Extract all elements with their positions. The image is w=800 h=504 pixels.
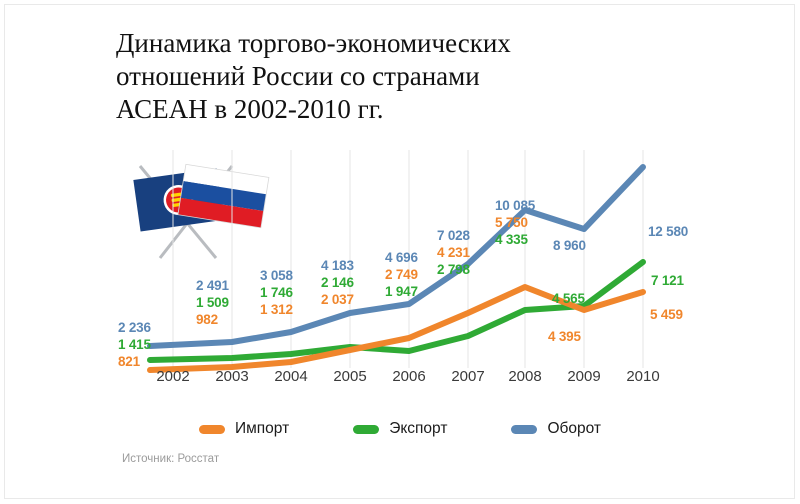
data-label: 3 058 [260,268,293,283]
data-label: 2 037 [321,292,354,307]
data-label: 4 183 [321,258,354,273]
data-label: 5 750 [495,215,528,230]
chart-legend: ИмпортЭкспортОборот [0,420,800,438]
data-label: 1 509 [196,295,229,310]
legend-swatch-turnover [511,425,537,434]
data-label: 4 231 [437,245,470,260]
page-title: Динамика торгово-экономических отношений… [116,27,676,126]
x-axis-tick-2010: 2010 [608,368,678,385]
data-label: 1 947 [385,284,418,299]
legend-swatch-export [353,425,379,434]
legend-swatch-import [199,425,225,434]
data-label: 4 335 [495,232,528,247]
data-label: 4 395 [548,329,581,344]
data-label: 982 [196,312,218,327]
legend-item-import[interactable]: Импорт [199,420,289,438]
data-label: 1 415 [118,337,151,352]
infographic-page: Динамика торгово-экономических отношений… [0,0,800,504]
legend-item-turnover[interactable]: Оборот [511,420,601,438]
data-label: 10 085 [495,198,535,213]
data-label: 7 028 [437,228,470,243]
legend-item-export[interactable]: Экспорт [353,420,447,438]
data-label: 12 580 [648,224,688,239]
data-label: 7 121 [651,273,684,288]
data-label: 4 696 [385,250,418,265]
data-label: 2 236 [118,320,151,335]
data-label: 5 459 [650,307,683,322]
legend-label-import: Импорт [235,420,289,438]
data-label: 2 491 [196,278,229,293]
legend-label-export: Экспорт [389,420,447,438]
data-label: 8 960 [553,238,586,253]
data-label: 2 798 [437,262,470,277]
legend-label-turnover: Оборот [547,420,601,438]
data-label: 4 565 [552,291,585,306]
data-label: 821 [118,354,140,369]
data-label: 2 749 [385,267,418,282]
x-axis: 200220032004200520062007200820092010 [0,368,800,390]
line-chart: 2 2361 4158212 4911 5099823 0581 7461 31… [0,150,800,385]
data-label: 1 746 [260,285,293,300]
source-note: Источник: Росстат [122,453,219,465]
data-label: 1 312 [260,302,293,317]
data-label: 2 146 [321,275,354,290]
